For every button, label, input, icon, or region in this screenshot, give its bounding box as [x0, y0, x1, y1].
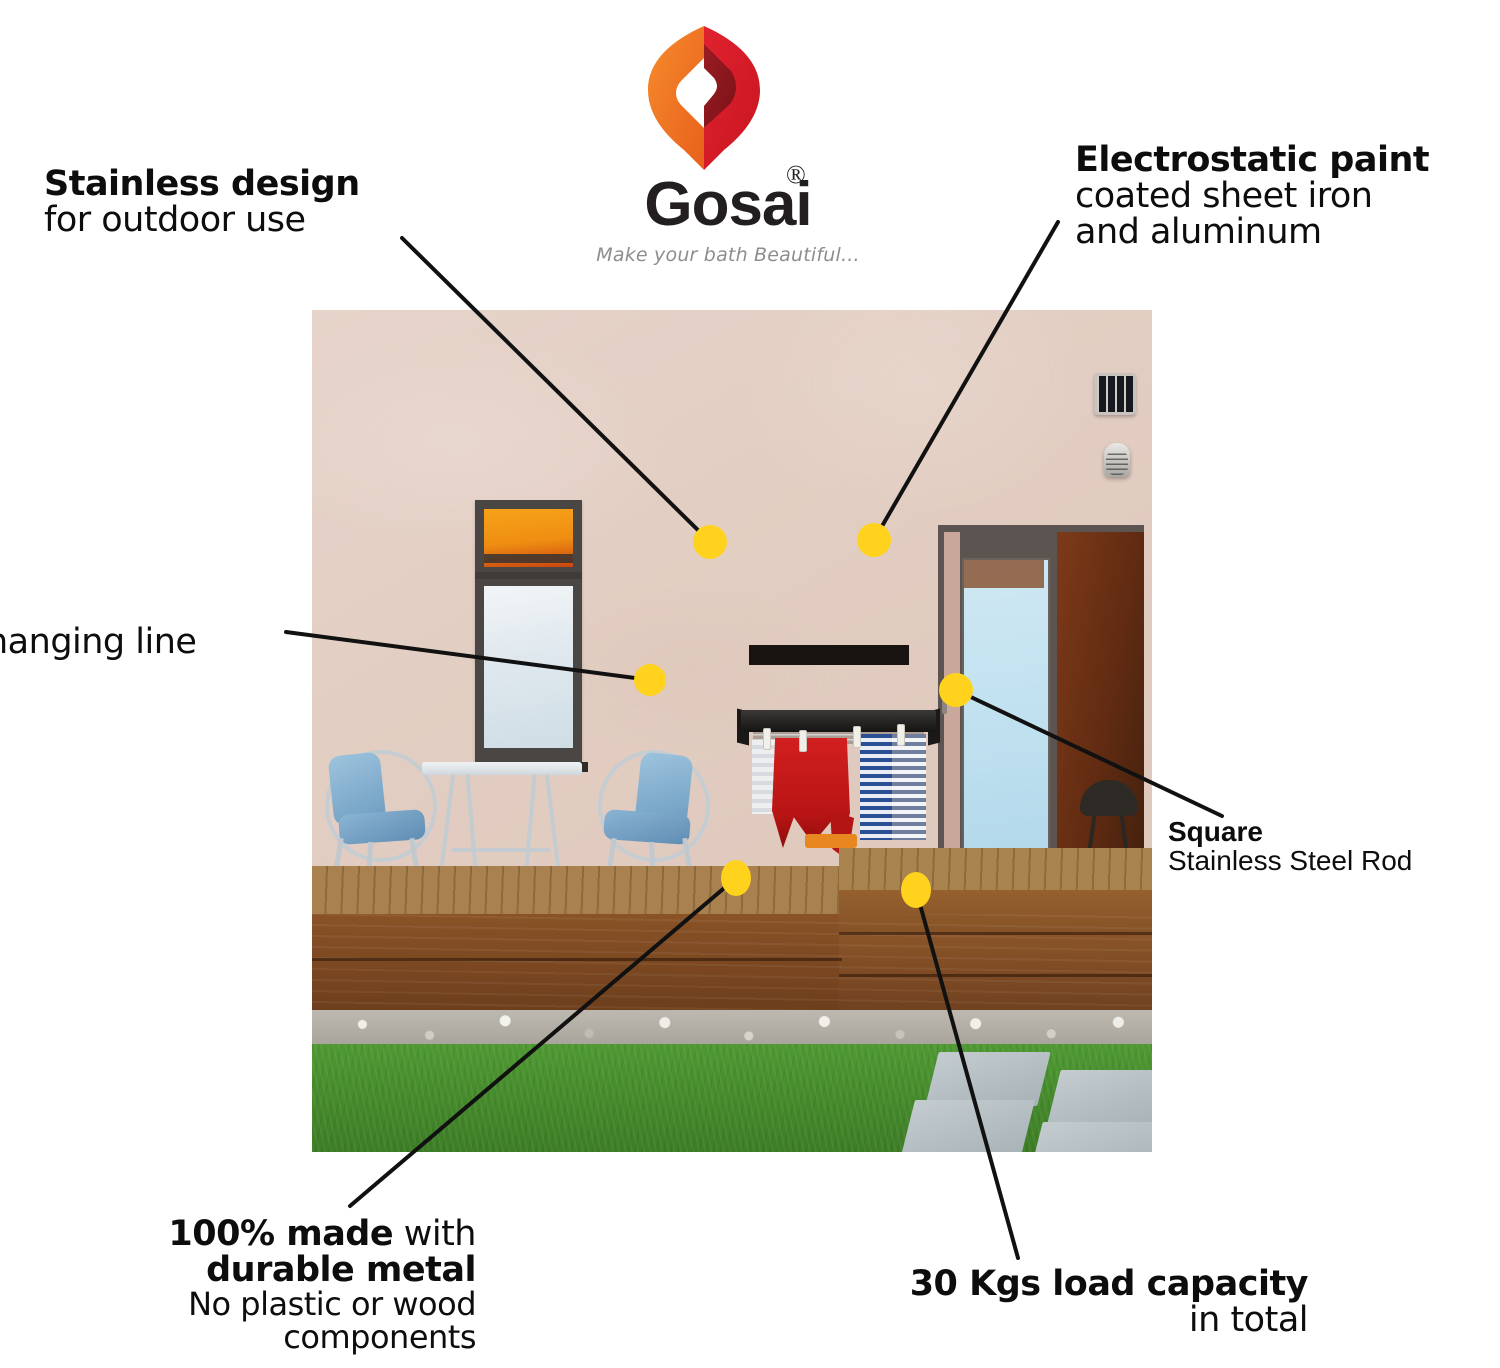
callout-stainless-design: Stainless design for outdoor use	[44, 166, 360, 238]
callout-line: components	[96, 1321, 476, 1354]
callout-hanging-line: hanging line	[0, 624, 196, 660]
callout-line: Stainless Steel Rod	[1168, 847, 1412, 876]
gosai-diamond-logo-icon	[634, 22, 774, 172]
callout-line: hanging line	[0, 624, 196, 660]
deck-planks-lower	[312, 866, 839, 916]
callout-line: Square	[1168, 818, 1412, 847]
stepping-stone	[925, 1052, 1050, 1106]
callout-line: Stainless design	[44, 166, 360, 202]
stepping-stone	[1047, 1070, 1152, 1124]
callout-line: durable metal	[96, 1252, 476, 1288]
stepping-stone	[1029, 1122, 1152, 1152]
callout-line: Electrostatic paint	[1075, 142, 1429, 178]
callout-line: 100% made	[168, 1214, 393, 1254]
gravel-border	[312, 1010, 1152, 1046]
callout-line: coated sheet iron	[1075, 178, 1429, 214]
door-handle	[942, 680, 947, 714]
clothes-peg	[763, 728, 771, 750]
window-top-pane	[484, 509, 573, 567]
hanging-striped-towel-2	[892, 734, 926, 840]
wall-vent-grille-icon	[1097, 376, 1133, 412]
clothes-peg	[799, 730, 807, 752]
brand-wordmark: Gosai	[578, 172, 878, 237]
callout-line: for outdoor use	[44, 202, 360, 238]
stepping-stone	[901, 1100, 1035, 1152]
callout-square-stainless-steel-rod: Square Stainless Steel Rod	[1168, 818, 1412, 876]
callout-electrostatic-paint: Electrostatic paint coated sheet iron an…	[1075, 142, 1429, 250]
deck-texture	[312, 914, 1152, 1014]
callout-load-capacity: 30 Kgs load capacity in total	[818, 1266, 1308, 1338]
callout-line: in total	[818, 1302, 1308, 1338]
brand-tagline: Make your bath Beautiful...	[578, 244, 878, 266]
deck-planks-upper	[839, 848, 1152, 892]
patio-chair-left	[317, 746, 435, 886]
callout-line: and aluminum	[1075, 214, 1429, 250]
patio-chair-right	[590, 746, 708, 886]
clothes-peg	[897, 724, 905, 746]
door-transom	[964, 560, 1044, 588]
hanging-orange-cloth	[805, 834, 857, 848]
infographic-canvas: ® Gosai Make your bath Beautiful...	[0, 0, 1500, 1368]
callout-line: 30 Kgs load capacity	[818, 1266, 1308, 1302]
callout-hanging-line-clipped-row	[138, 586, 338, 618]
wall-mounted-bar	[749, 645, 909, 665]
wall-light-cage	[1106, 451, 1128, 475]
brand-logo: ® Gosai Make your bath Beautiful...	[578, 22, 878, 284]
door-glass-panel	[962, 558, 1050, 880]
interior-chair	[1080, 780, 1138, 852]
clothes-peg	[853, 726, 861, 748]
product-photo	[312, 310, 1152, 1152]
window-bottom-pane	[484, 586, 573, 748]
callout-line-suffix: with	[393, 1214, 476, 1254]
callout-line: No plastic or wood	[96, 1288, 476, 1321]
window-divider	[475, 572, 582, 579]
callout-durable-metal: 100% made with durable metal No plastic …	[96, 1216, 476, 1354]
